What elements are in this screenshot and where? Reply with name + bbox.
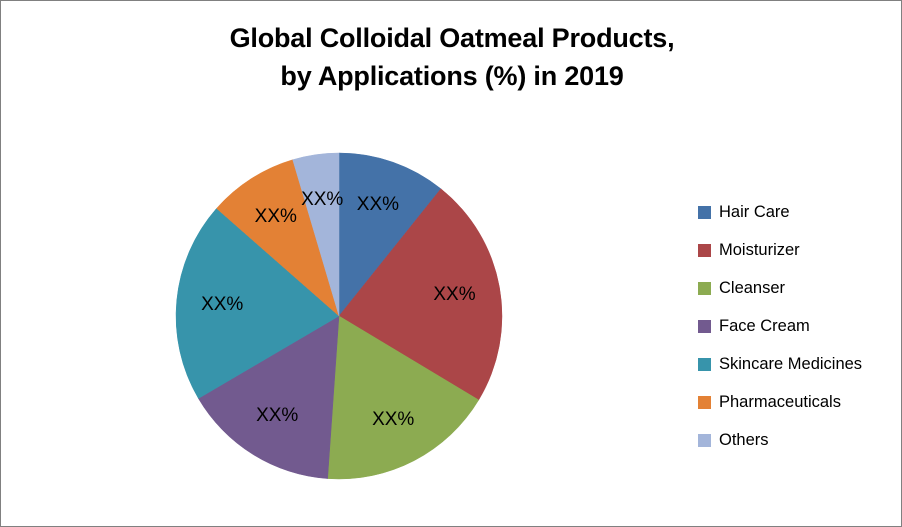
legend-item-label: Face Cream	[719, 317, 810, 336]
legend-item-label: Pharmaceuticals	[719, 393, 841, 412]
legend-item-label: Skincare Medicines	[719, 355, 862, 374]
chart-legend: Hair CareMoisturizerCleanserFace CreamSk…	[698, 193, 898, 459]
legend-swatch-icon	[698, 320, 711, 333]
legend-item[interactable]: Cleanser	[698, 269, 898, 307]
legend-item[interactable]: Moisturizer	[698, 231, 898, 269]
legend-swatch-icon	[698, 206, 711, 219]
legend-item-label: Moisturizer	[719, 241, 800, 260]
pie-chart-figure: Global Colloidal Oatmeal Products, by Ap…	[0, 0, 902, 527]
legend-item-label: Cleanser	[719, 279, 785, 298]
legend-swatch-icon	[698, 358, 711, 371]
legend-item[interactable]: Hair Care	[698, 193, 898, 231]
legend-item[interactable]: Pharmaceuticals	[698, 383, 898, 421]
legend-swatch-icon	[698, 434, 711, 447]
legend-item-label: Others	[719, 431, 769, 450]
legend-swatch-icon	[698, 282, 711, 295]
legend-swatch-icon	[698, 396, 711, 409]
legend-item-label: Hair Care	[719, 203, 790, 222]
legend-swatch-icon	[698, 244, 711, 257]
legend-item[interactable]: Skincare Medicines	[698, 345, 898, 383]
legend-item[interactable]: Others	[698, 421, 898, 459]
legend-item[interactable]: Face Cream	[698, 307, 898, 345]
